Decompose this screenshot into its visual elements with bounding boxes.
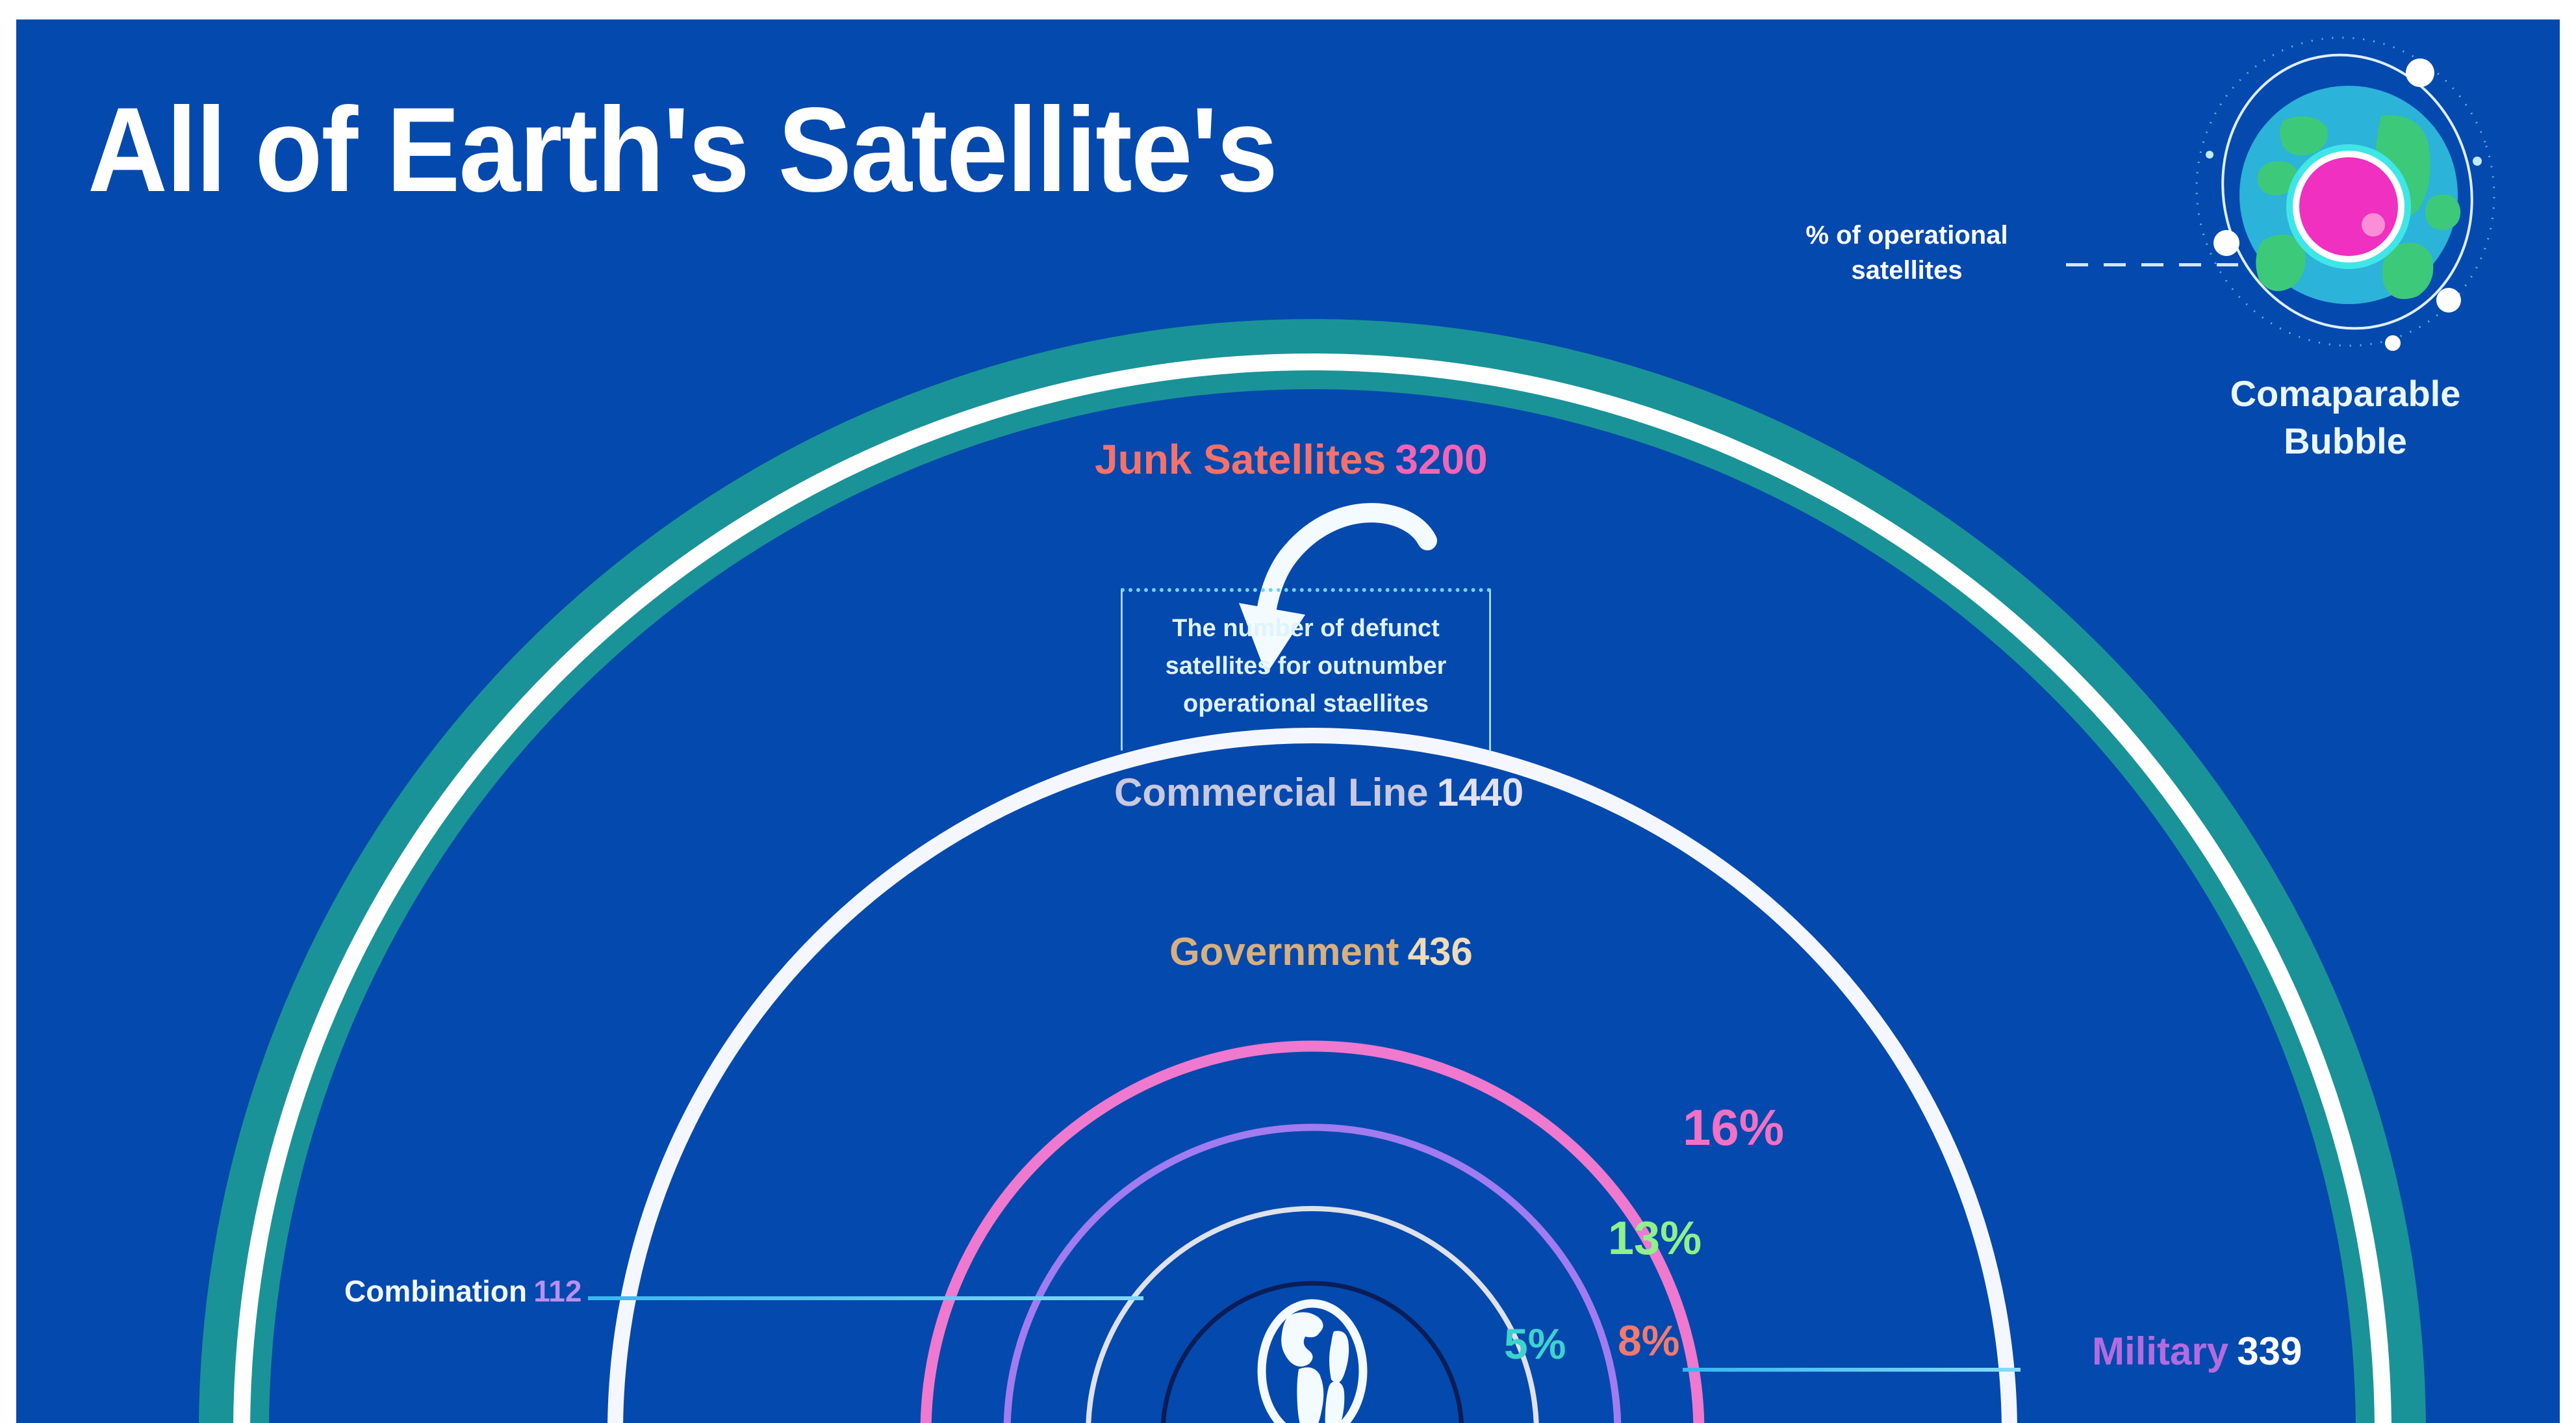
legend-caption-line1: % of operational	[1767, 218, 2047, 253]
label-commercial-value: 1440	[1437, 771, 1524, 814]
annotation-line2: satellites for outnumber	[1145, 648, 1467, 686]
label-combination-name: Combination	[344, 1274, 527, 1308]
percent-label-16: 16%	[1683, 1098, 1784, 1157]
label-military-name: Military	[2092, 1329, 2228, 1373]
star-dot	[2206, 151, 2213, 159]
legend-bubble-label: Comaparable Bubble	[2150, 370, 2540, 465]
earth-americas-icon	[1251, 1296, 1374, 1423]
annotation-text: The number of defunct satellites for out…	[1123, 592, 1489, 723]
annotation-box: The number of defunct satellites for out…	[1121, 588, 1491, 750]
legend-caption: % of operational satellites	[1767, 218, 2047, 288]
legend-label-line2: Bubble	[2150, 418, 2540, 465]
percent-label-13: 13%	[1608, 1212, 1702, 1265]
leader-line-combination	[588, 1296, 1143, 1300]
label-military: Military339	[2092, 1329, 2302, 1374]
legend-label-line1: Comaparable	[2150, 370, 2540, 418]
leader-line-military	[1683, 1368, 2021, 1372]
percent-label-5: 5%	[1504, 1319, 1566, 1368]
satellite-dot	[2385, 335, 2401, 351]
annotation-line3: operational staellites	[1145, 686, 1467, 723]
label-government: Government436	[1169, 929, 1473, 974]
percent-label-8: 8%	[1618, 1316, 1679, 1365]
satellite-dot	[2213, 230, 2239, 256]
page-title: All of Earth's Satellite's	[88, 81, 1277, 219]
earth-globe-icon	[2186, 32, 2505, 351]
comparable-bubble-icon	[2299, 157, 2398, 256]
label-military-value: 339	[2237, 1329, 2302, 1373]
label-government-value: 436	[1408, 930, 1473, 973]
label-commercial-line: Commercial Line1440	[1114, 770, 1524, 815]
bubble-highlight	[2362, 213, 2385, 237]
label-junk-name: Junk Satellites	[1095, 436, 1386, 483]
annotation-line1: The number of defunct	[1145, 610, 1467, 648]
label-combination-value: 112	[533, 1274, 581, 1308]
legend-caption-line2: satellites	[1767, 253, 2047, 288]
satellite-dot	[2406, 58, 2434, 87]
star-dot	[2473, 157, 2482, 166]
label-combination: Combination112	[344, 1274, 581, 1309]
infographic-frame: All of Earth's Satellite's % of operatio…	[0, 0, 2576, 1423]
legend-group: % of operational satellites	[1731, 26, 2560, 520]
label-junk-satellites: Junk Satellites3200	[1095, 435, 1488, 483]
infographic-canvas: All of Earth's Satellite's % of operatio…	[16, 19, 2560, 1423]
label-commercial-name: Commercial Line	[1114, 771, 1429, 814]
satellite-dot	[2436, 288, 2461, 313]
label-junk-value: 3200	[1395, 436, 1487, 483]
label-government-name: Government	[1169, 930, 1399, 973]
